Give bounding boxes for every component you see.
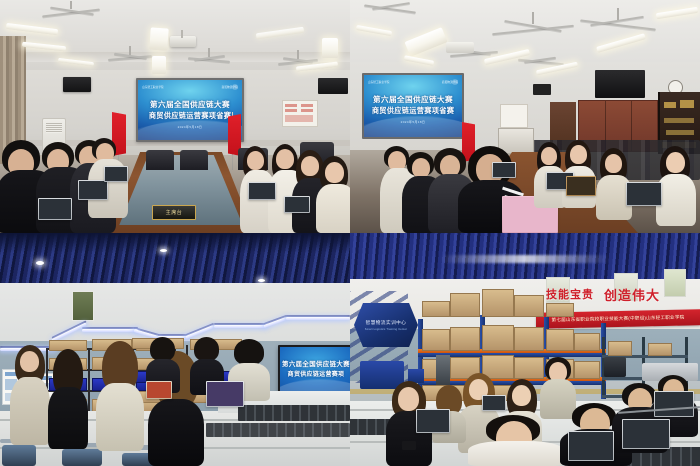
- hex-sign-line2: Smart Logistics Training Center: [365, 328, 407, 331]
- ceiling-fan: [364, 2, 416, 14]
- slide-subtitle: 2024年5月18日: [364, 120, 462, 124]
- wall-tv[interactable]: 第六届全国供应链大赛 商贸供应链运营赛项: [278, 345, 350, 397]
- laptop: [38, 198, 72, 220]
- table-nameplate: 主席台: [152, 205, 196, 220]
- tv-title-line2: 商贸供应链运营赛项: [280, 369, 350, 378]
- meeting-chair: [146, 150, 174, 170]
- slide-title-line1: 第六届全国供应链大赛: [138, 99, 242, 110]
- slide-logo: [232, 84, 238, 90]
- laptop: [568, 431, 614, 461]
- panel-top-left: 山东轻工职业学院 商贸物流学院 第六届全国供应链大赛 商贸供应链运营赛项省赛 2…: [0, 0, 350, 233]
- panel-bottom-right: 技能宝贵 创造伟大 第七届山东省职业院校职业技能大赛(中职组)山东轻工职业学院 …: [350, 233, 700, 466]
- slide-content: 山东轻工职业学院 商贸物流学院 第六届全国供应链大赛 商贸供应链运营赛项省赛 2…: [364, 75, 462, 137]
- participant: [96, 341, 144, 451]
- slide-header-left: 山东轻工职业学院: [142, 85, 164, 89]
- nameplate-text: 主席台: [166, 209, 183, 216]
- meeting-chair: [180, 150, 208, 170]
- projector-mount: [181, 30, 183, 38]
- projector: [446, 42, 474, 53]
- fluorescent-tube-light: [149, 27, 168, 50]
- wall-window: [72, 291, 94, 321]
- tv-slide: 第六届全国供应链大赛 商贸供应链运营赛项: [280, 347, 350, 395]
- downlight: [36, 261, 44, 265]
- participant: [48, 349, 88, 449]
- wall-tv: [595, 70, 645, 98]
- smartphone: [402, 441, 416, 450]
- laptop: [146, 381, 172, 399]
- equipment-tray: [238, 405, 350, 421]
- photo-collage: 山东轻工职业学院 商贸物流学院 第六届全国供应链大赛 商贸供应链运营赛项省赛 2…: [0, 0, 700, 466]
- laptop: [104, 166, 128, 182]
- panel-top-right: 山东轻工职业学院 商贸物流学院 第六届全国供应链大赛 商贸供应链运营赛项省赛 2…: [350, 0, 700, 233]
- slide-subtitle: 2024年5月18日: [138, 125, 242, 129]
- equipment-console: [604, 357, 626, 377]
- laptop: [626, 182, 662, 206]
- laptop: [78, 180, 108, 200]
- ceiling-fan: [42, 6, 100, 20]
- hex-sign-line1: 智慧物流实训中心: [366, 320, 407, 326]
- downlight: [258, 279, 265, 282]
- slogan-right: 创造伟大: [604, 285, 660, 304]
- forklift-cage: [436, 355, 450, 385]
- hexagon-sign: 智慧物流实训中心 Smart Logistics Training Center: [354, 303, 418, 347]
- participant: [10, 345, 50, 445]
- laptop: [566, 176, 596, 196]
- laptop: [284, 196, 310, 213]
- laptop: [492, 162, 516, 178]
- laptop: [622, 419, 670, 449]
- slide-logo: [452, 79, 458, 85]
- downlight: [160, 249, 167, 252]
- participant: [656, 146, 696, 226]
- participant: [468, 415, 564, 466]
- laptop: [206, 381, 244, 407]
- wall-tv: [63, 77, 91, 92]
- laptop: [654, 391, 694, 417]
- notice-board: [500, 104, 528, 128]
- wall-tv: [318, 78, 348, 94]
- fluorescent-tube-light: [322, 38, 338, 58]
- slide-content: 山东轻工职业学院 商贸物流学院 第六届全国供应链大赛 商贸供应链运营赛项省赛 2…: [138, 80, 242, 140]
- projection-screen: 山东轻工职业学院 商贸物流学院 第六届全国供应链大赛 商贸供应链运营赛项省赛 2…: [136, 78, 244, 142]
- participant: [316, 156, 350, 233]
- ceiling-fan: [188, 54, 230, 64]
- ceiling-fan: [492, 20, 574, 38]
- panel-bottom-left: 第六届全国供应链大赛 商贸供应链运营赛项: [0, 233, 350, 466]
- projector: [170, 36, 196, 47]
- notice-board: [282, 100, 318, 127]
- slide-title-line1: 第六届全国供应链大赛: [364, 94, 462, 105]
- ceiling-shadow: [0, 233, 350, 253]
- slide-header-left: 山东轻工职业学院: [368, 80, 390, 84]
- laptop: [482, 395, 506, 411]
- tv-title-line1: 第六届全国供应链大赛: [280, 359, 350, 368]
- fluorescent-tube-light: [152, 56, 166, 74]
- projection-screen: 山东轻工职业学院 商贸物流学院 第六届全国供应链大赛 商贸供应链运营赛项省赛 2…: [362, 73, 464, 139]
- ceiling-light: [440, 255, 610, 263]
- slogan-left: 技能宝贵: [546, 286, 594, 302]
- laptop: [416, 409, 450, 433]
- slide-title-line2: 商贸供应链运营赛项省赛: [138, 111, 242, 121]
- laptop: [248, 182, 276, 200]
- ceiling-fan: [580, 16, 656, 32]
- ceiling-fan: [518, 56, 564, 66]
- wall-tv: [533, 84, 551, 95]
- ceiling-fan: [108, 52, 152, 62]
- slide-title-line2: 商贸供应链运营赛项省赛: [364, 106, 462, 116]
